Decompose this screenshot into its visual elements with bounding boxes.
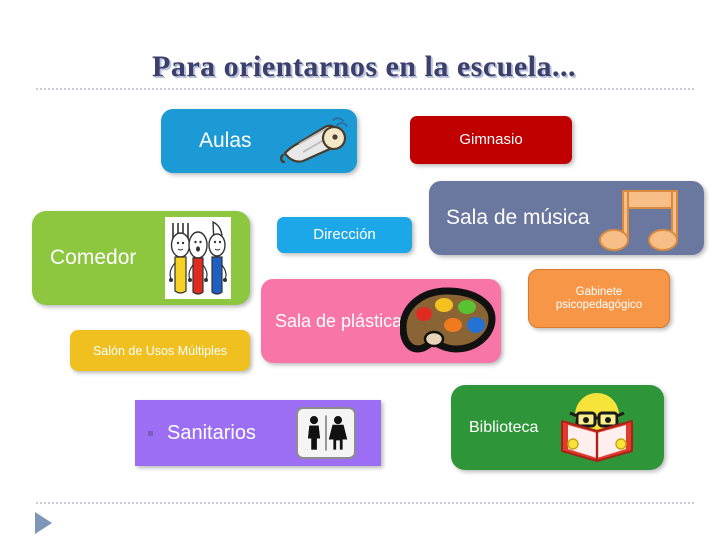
box-sala-de-plastica-label: Sala de plástica [275, 311, 402, 331]
bullet-icon [148, 431, 153, 436]
box-sala-de-musica-label: Sala de música [446, 206, 590, 230]
box-biblioteca[interactable]: Biblioteca [451, 385, 664, 470]
cutlery-characters-icon [165, 217, 231, 299]
slide-canvas: Para orientarnos en la escuela... Aulas … [0, 0, 728, 546]
box-direccion[interactable]: Dirección [277, 217, 412, 253]
box-biblioteca-label: Biblioteca [469, 419, 538, 437]
box-sala-de-musica[interactable]: Sala de música [429, 181, 704, 255]
box-gabinete-psicopedagogico[interactable]: Gabinete psicopedagógico [528, 269, 670, 328]
box-comedor-label: Comedor [50, 246, 136, 270]
box-gabinete-psicopedagogico-label: Gabinete psicopedagógico [556, 286, 642, 312]
pencil-icon [279, 115, 351, 167]
box-sanitarios[interactable]: Sanitarios [135, 400, 381, 466]
title-divider [36, 88, 694, 90]
box-salon-de-usos-multiples-label: Salón de Usos Múltiples [93, 344, 227, 358]
box-gimnasio[interactable]: Gimnasio [410, 116, 572, 164]
box-direccion-label: Dirección [313, 227, 376, 244]
box-comedor[interactable]: Comedor [32, 211, 250, 305]
box-aulas-label: Aulas [199, 129, 252, 153]
restroom-sign-icon [296, 407, 356, 459]
box-sanitarios-label: Sanitarios [167, 422, 256, 444]
music-note-icon [597, 187, 689, 253]
next-arrow-icon[interactable] [35, 512, 52, 534]
reading-smiley-icon [556, 391, 638, 463]
box-aulas[interactable]: Aulas [161, 109, 357, 173]
paint-palette-icon [400, 287, 496, 355]
bottom-divider [36, 502, 694, 504]
box-gimnasio-label: Gimnasio [459, 132, 522, 149]
box-sala-de-plastica[interactable]: Sala de plástica [261, 279, 501, 363]
page-title: Para orientarnos en la escuela... [0, 50, 728, 84]
box-salon-de-usos-multiples[interactable]: Salón de Usos Múltiples [70, 330, 250, 371]
